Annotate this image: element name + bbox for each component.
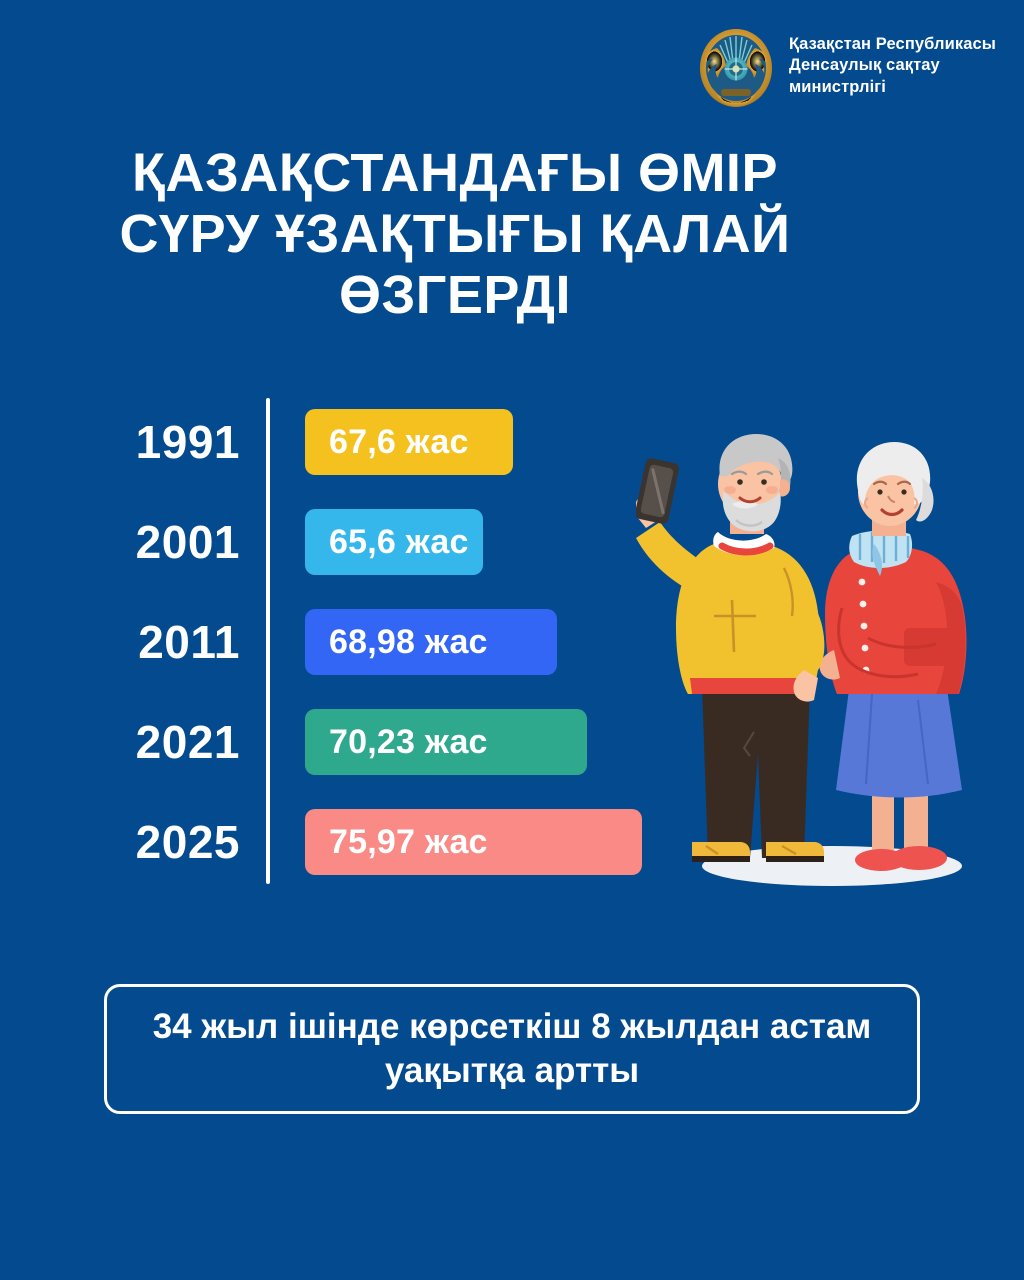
bar-2001: 65,6 жас xyxy=(305,509,483,575)
bar-year-label: 1991 xyxy=(0,392,240,492)
summary-caption-text: 34 жыл ішінде көрсеткіш 8 жылдан астам у… xyxy=(141,1005,883,1093)
bar-2025: 75,97 жас xyxy=(305,809,642,875)
infographic-page: { "page": { "background_color": "#034A8F… xyxy=(0,0,1024,1280)
chart-row: 2021 70,23 жас xyxy=(0,692,700,792)
bar-year-label: 2001 xyxy=(0,492,240,592)
chart-row: 2025 75,97 жас xyxy=(0,792,700,892)
bar-2021: 70,23 жас xyxy=(305,709,587,775)
life-expectancy-bar-chart: 1991 67,6 жас 2001 65,6 жас 2011 68,98 ж… xyxy=(0,392,700,892)
bar-year-label: 2011 xyxy=(0,592,240,692)
kazakhstan-state-emblem-icon xyxy=(697,22,775,110)
summary-caption-box: 34 жыл ішінде көрсеткіш 8 жылдан астам у… xyxy=(104,984,920,1114)
chart-rows: 1991 67,6 жас 2001 65,6 жас 2011 68,98 ж… xyxy=(0,392,700,892)
ministry-name-label: Қазақстан Республикасы Денсаулық сақтау … xyxy=(789,34,996,97)
chart-row: 2001 65,6 жас xyxy=(0,492,700,592)
bar-year-label: 2025 xyxy=(0,792,240,892)
chart-row: 2011 68,98 жас xyxy=(0,592,700,692)
ministry-logo-block: Қазақстан Республикасы Денсаулық сақтау … xyxy=(697,22,996,110)
chart-row: 1991 67,6 жас xyxy=(0,392,700,492)
bar-2011: 68,98 жас xyxy=(305,609,557,675)
elderly-couple-selfie-illustration xyxy=(636,432,1016,904)
bar-year-label: 2021 xyxy=(0,692,240,792)
page-title: ҚАЗАҚСТАНДАҒЫ ӨМІР СҮРУ ҰЗАҚТЫҒЫ ҚАЛАЙ Ө… xyxy=(60,143,850,326)
bar-1991: 67,6 жас xyxy=(305,409,513,475)
